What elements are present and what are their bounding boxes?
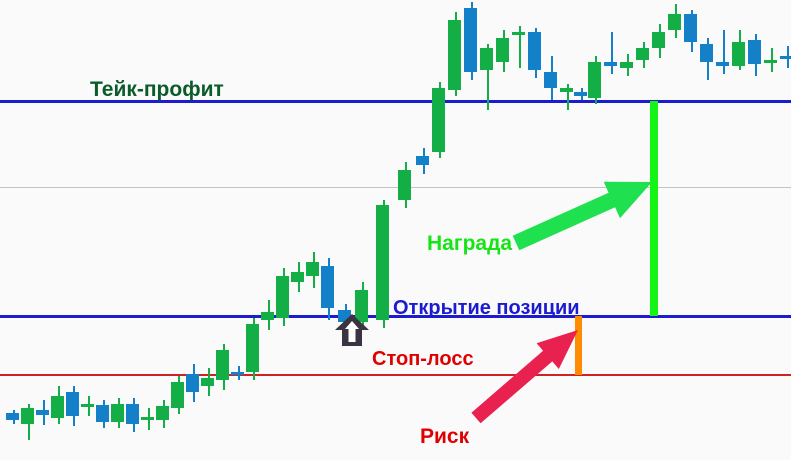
trading-chart: Тейк-профит Открытие позиции Стоп-лосс Н… [0, 0, 791, 460]
reward-arrow [513, 182, 652, 251]
reward-label: Награда [427, 232, 512, 256]
entry-position-label: Открытие позиции [393, 297, 580, 320]
stop-loss-label: Стоп-лосс [372, 348, 474, 371]
risk-arrow [471, 330, 578, 423]
take-profit-label: Тейк-профит [90, 78, 224, 102]
annotation-arrows-layer [0, 0, 791, 460]
risk-label: Риск [420, 425, 469, 449]
entry-arrow-up-icon [335, 314, 369, 346]
